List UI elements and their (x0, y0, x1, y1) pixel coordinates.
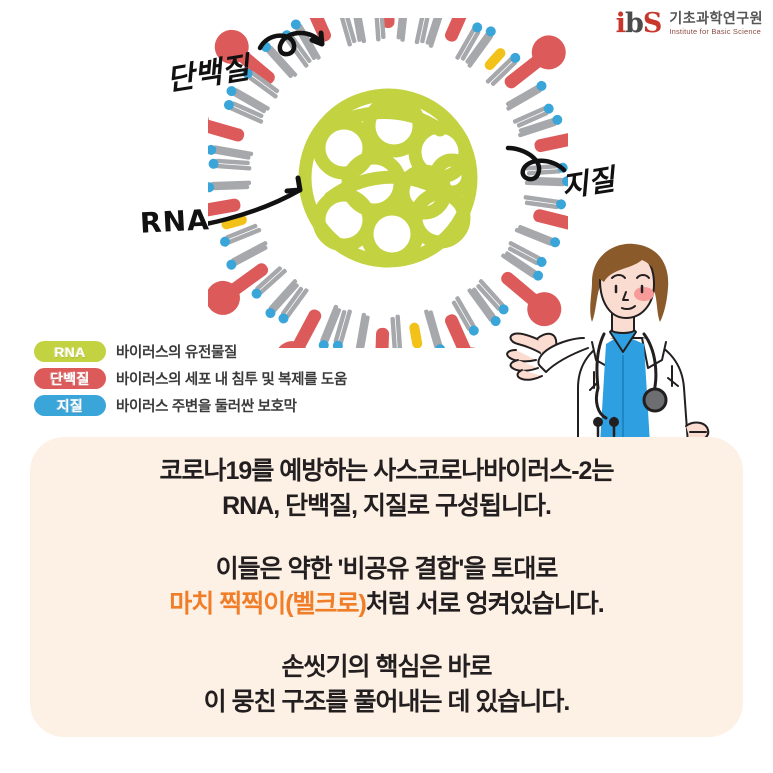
legend: RNA 바이러스의 유전물질 단백질 바이러스의 세포 내 침투 및 복제를 도… (34, 341, 347, 416)
legend-item-protein: 단백질 바이러스의 세포 내 침투 및 복제를 도움 (34, 368, 347, 389)
doctor-character (492, 238, 754, 444)
legend-desc-lipid: 바이러스 주변을 둘러싼 보호막 (116, 395, 297, 416)
label-rna: RNA (139, 203, 210, 240)
paragraph-3-line-1: 손씻기의 핵심은 바로 (204, 650, 570, 686)
legend-pill-rna: RNA (34, 341, 106, 362)
paragraph-2: 이들은 약한 '비공유 결합'을 토대로 마치 찍찍이(벨크로)처럼 서로 엉켜… (169, 552, 603, 623)
paragraph-3: 손씻기의 핵심은 바로 이 뭉친 구조를 풀어내는 데 있습니다. (204, 650, 570, 721)
rna-strand (305, 95, 471, 261)
message-panel: 코로나19를 예방하는 사스코로나바이러스-2는 RNA, 단백질, 지질로 구… (30, 437, 743, 737)
paragraph-2-line-1: 이들은 약한 '비공유 결합'을 토대로 (169, 552, 603, 588)
lipid-arrow-icon (508, 148, 564, 179)
legend-pill-protein: 단백질 (34, 368, 106, 389)
paragraph-1-line-2: RNA, 단백질, 지질로 구성됩니다. (160, 489, 614, 525)
infographic-root: ibS 기초과학연구원 Institute for Basic Science (0, 0, 773, 773)
label-lipid: 지질 (558, 156, 617, 206)
legend-desc-protein: 바이러스의 세포 내 침투 및 복제를 도움 (116, 368, 347, 389)
paragraph-2-line-2: 마치 찍찍이(벨크로)처럼 서로 엉켜있습니다. (169, 587, 603, 623)
paragraph-1: 코로나19를 예방하는 사스코로나바이러스-2는 RNA, 단백질, 지질로 구… (160, 454, 614, 525)
legend-pill-lipid: 지질 (34, 395, 106, 416)
paragraph-3-line-2: 이 뭉친 구조를 풀어내는 데 있습니다. (204, 685, 570, 721)
paragraph-1-line-1: 코로나19를 예방하는 사스코로나바이러스-2는 (160, 454, 614, 490)
legend-item-rna: RNA 바이러스의 유전물질 (34, 341, 347, 362)
paragraph-2-line-2-rest: 처럼 서로 엉켜있습니다. (366, 590, 604, 618)
legend-desc-rna: 바이러스의 유전물질 (116, 341, 237, 362)
highlight-velcro: 마치 찍찍이(벨크로) (169, 590, 366, 618)
legend-item-lipid: 지질 바이러스 주변을 둘러싼 보호막 (34, 395, 347, 416)
